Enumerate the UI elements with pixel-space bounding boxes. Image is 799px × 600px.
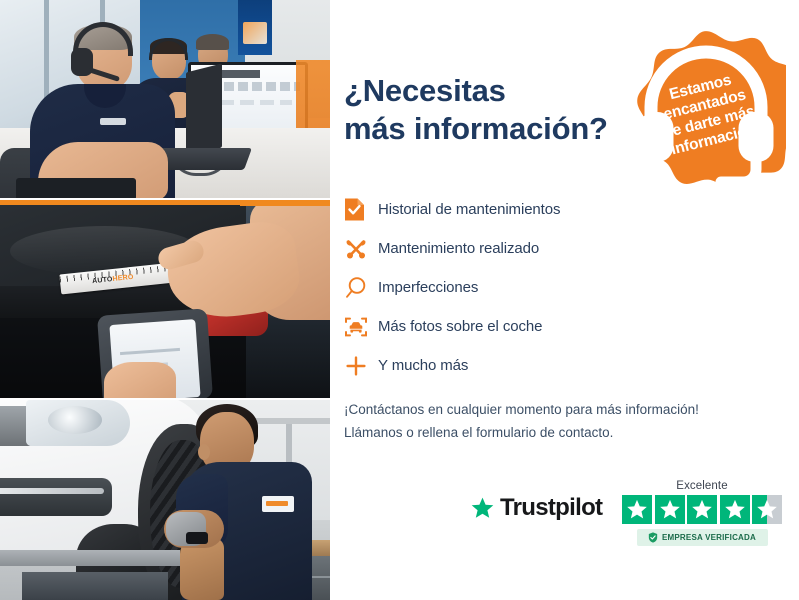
feature-label: Imperfecciones xyxy=(378,279,478,296)
verified-label: EMPRESA VERIFICADA xyxy=(662,533,756,542)
star-4 xyxy=(720,495,750,524)
trustpilot-star-icon xyxy=(470,496,495,520)
headline-line-2: más información? xyxy=(344,110,644,148)
crossed-tools-icon xyxy=(344,234,378,264)
magnifier-icon xyxy=(344,273,378,303)
call-center-agents-photo xyxy=(0,0,330,198)
feature-label: Mantenimiento realizado xyxy=(378,240,539,257)
content-panel: ¿Necesitas más información? Estamos enca… xyxy=(330,0,799,600)
shield-check-icon xyxy=(648,532,658,543)
star-5-half xyxy=(752,495,782,524)
trustpilot-widget[interactable]: Trustpilot Excelente xyxy=(470,480,790,555)
plus-icon xyxy=(344,351,378,381)
page-title: ¿Necesitas más información? xyxy=(344,72,644,149)
car-frame-icon xyxy=(344,312,378,342)
verified-company-badge: EMPRESA VERIFICADA xyxy=(637,529,768,546)
info-banner: AUTOHERO xyxy=(0,0,799,600)
trustpilot-logo[interactable]: Trustpilot xyxy=(470,494,602,522)
car-inspection-ruler-photo: AUTOHERO xyxy=(0,200,330,398)
feature-label: Y mucho más xyxy=(378,357,468,374)
photo-column: AUTOHERO xyxy=(0,0,330,600)
headline-line-1: ¿Necesitas xyxy=(344,72,644,110)
feature-label: Historial de mantenimientos xyxy=(378,201,560,218)
document-check-icon xyxy=(344,195,378,225)
rating-label: Excelente xyxy=(616,480,788,492)
feature-list: Historial de mantenimientos M xyxy=(344,190,644,385)
feature-item-mantenimiento: Mantenimiento realizado xyxy=(344,229,644,268)
contact-line-2: Llámanos o rellena el formulario de cont… xyxy=(344,421,784,444)
feature-label: Más fotos sobre el coche xyxy=(378,318,542,335)
trustpilot-rating: Excelente xyxy=(616,480,788,546)
feature-item-historial: Historial de mantenimientos xyxy=(344,190,644,229)
feature-item-imperfecciones: Imperfecciones xyxy=(344,268,644,307)
star-3 xyxy=(687,495,717,524)
star-rating xyxy=(616,495,788,524)
contact-line-1: ¡Contáctanos en cualquier momento para m… xyxy=(344,398,784,421)
star-2 xyxy=(655,495,685,524)
trustpilot-wordmark: Trustpilot xyxy=(500,494,602,522)
star-1 xyxy=(622,495,652,524)
feature-item-mas: Y mucho más xyxy=(344,346,644,385)
promo-badge: Estamos encantados de darte más informac… xyxy=(626,28,786,186)
mechanic-tire-photo xyxy=(0,400,330,600)
contact-text: ¡Contáctanos en cualquier momento para m… xyxy=(344,398,784,444)
feature-item-fotos: Más fotos sobre el coche xyxy=(344,307,644,346)
